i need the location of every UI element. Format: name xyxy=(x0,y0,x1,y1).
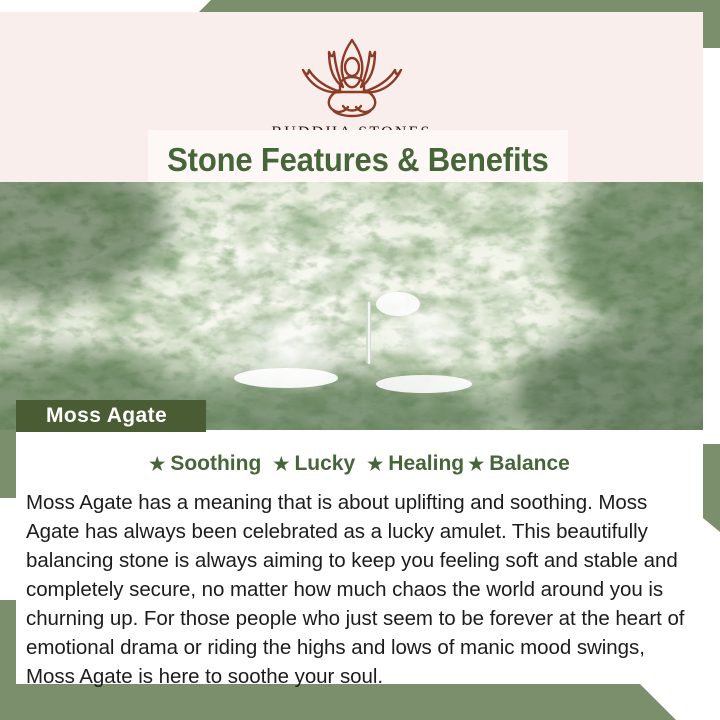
feature-item-healing: ★ Healing xyxy=(367,452,464,476)
star-icon: ★ xyxy=(468,455,484,473)
feature-label-soothing: Soothing xyxy=(170,452,261,476)
stone-name-banner: Moss Agate xyxy=(16,400,206,432)
star-icon: ★ xyxy=(273,455,289,473)
feature-label-healing: Healing xyxy=(388,452,464,476)
feature-item-lucky: ★ Lucky xyxy=(273,452,355,476)
frame-accent-right-top xyxy=(703,0,720,48)
brand-logo: BUDDHA STONES xyxy=(0,30,703,142)
feature-list: ★ Soothing ★ Lucky ★ Healing ★ Balance xyxy=(16,452,703,476)
feature-label-balance: Balance xyxy=(489,452,570,476)
feature-label-lucky: Lucky xyxy=(294,452,355,476)
infographic-page: BUDDHA STONES Stone Features & Benefits xyxy=(0,0,720,720)
page-title: Stone Features & Benefits xyxy=(167,141,548,179)
star-icon: ★ xyxy=(149,455,165,473)
header: BUDDHA STONES Stone Features & Benefits xyxy=(0,12,703,190)
star-icon: ★ xyxy=(367,455,383,473)
stone-name: Moss Agate xyxy=(16,404,167,428)
description-card: ★ Soothing ★ Lucky ★ Healing ★ Balance M… xyxy=(16,432,703,684)
moss-agate-image xyxy=(0,182,703,430)
feature-item-soothing: ★ Soothing xyxy=(149,452,261,476)
page-title-banner: Stone Features & Benefits xyxy=(148,130,568,190)
stone-description: Moss Agate has a meaning that is about u… xyxy=(26,488,690,691)
feature-item-balance: ★ Balance xyxy=(468,452,570,476)
lotus-meditation-icon xyxy=(277,30,427,122)
stone-photo xyxy=(0,182,703,430)
frame-accent-right-middle xyxy=(703,444,720,532)
